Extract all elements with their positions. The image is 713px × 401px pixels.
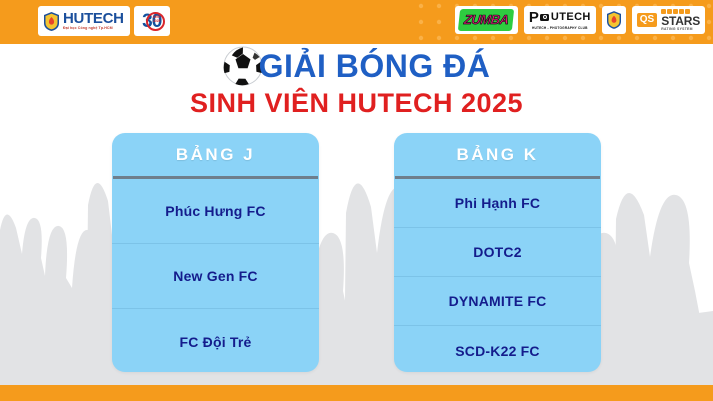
qs-rating-system-text: RATING SYSTEM <box>661 28 700 31</box>
camera-icon <box>540 14 549 21</box>
group-card-k: BẢNG K Phi Hạnh FC DOTC2 DYNAMITE FC SCD… <box>394 133 601 372</box>
team-name: DYNAMITE FC <box>449 293 547 309</box>
header-right-logo-group: ZUMBA P UTECH HUTECH - PHOTOGRAPHY CLUB … <box>455 6 705 34</box>
header-left-logo-group: HUTECH Đại học Công nghệ Tp.HCM 30 1995-… <box>38 6 170 36</box>
team-name: Phi Hạnh FC <box>455 195 540 211</box>
hutech-30-anniversary-logo: 30 1995-2025 <box>134 6 170 36</box>
bottom-orange-bar <box>0 385 713 401</box>
page-title-line1: GIẢI BÓNG ĐÁ <box>259 50 491 82</box>
zumba-logo-text: ZUMBA <box>464 12 510 27</box>
group-card-j: BẢNG J Phúc Hưng FC New Gen FC FC Đội Tr… <box>112 133 319 372</box>
hutech-shield-logo <box>602 6 626 34</box>
team-row[interactable]: Phúc Hưng FC <box>112 179 319 244</box>
hutech-logo-text: HUTECH <box>63 11 124 26</box>
group-j-header-label: BẢNG J <box>176 145 255 165</box>
zumba-logo: ZUMBA <box>455 6 517 34</box>
team-name: Phúc Hưng FC <box>165 203 265 219</box>
team-row[interactable]: SCD-K22 FC <box>394 326 601 372</box>
qs-badge-text: QS <box>637 13 657 27</box>
team-name: FC Đội Trẻ <box>179 334 251 350</box>
qs-stars-text: STARS <box>661 15 700 27</box>
group-j-header: BẢNG J <box>112 133 319 176</box>
group-k-team-list: Phi Hạnh FC DOTC2 DYNAMITE FC SCD-K22 FC <box>394 179 601 372</box>
soccer-ball-icon <box>223 46 263 86</box>
qs-stars-logo: QS STARS RATING SYSTEM <box>632 6 705 34</box>
photo-club-p-letter: P <box>529 11 539 25</box>
zumba-logo-badge: ZUMBA <box>458 9 515 31</box>
hutech-shield-icon <box>607 11 621 29</box>
photo-club-text: UTECH <box>551 12 591 23</box>
team-row[interactable]: FC Đội Trẻ <box>112 309 319 372</box>
hutech-logo: HUTECH Đại học Công nghệ Tp.HCM <box>38 6 130 36</box>
hutech-photography-club-logo: P UTECH HUTECH - PHOTOGRAPHY CLUB <box>524 6 596 34</box>
page-title: GIẢI BÓNG ĐÁ SINH VIÊN HUTECH 2025 <box>0 46 713 117</box>
team-row[interactable]: Phi Hạnh FC <box>394 179 601 228</box>
photo-club-subtitle: HUTECH - PHOTOGRAPHY CLUB <box>532 26 588 30</box>
group-k-header: BẢNG K <box>394 133 601 176</box>
team-name: SCD-K22 FC <box>455 343 539 359</box>
team-row[interactable]: DOTC2 <box>394 228 601 277</box>
slide-canvas: HUTECH Đại học Công nghệ Tp.HCM 30 1995-… <box>0 0 713 401</box>
hutech-shield-icon <box>44 12 59 31</box>
anniversary-years: 1995-2025 <box>151 16 163 23</box>
team-name: DOTC2 <box>473 244 521 260</box>
team-name: New Gen FC <box>173 268 257 284</box>
hutech-logo-subtitle: Đại học Công nghệ Tp.HCM <box>63 27 124 31</box>
page-title-line2: SINH VIÊN HUTECH 2025 <box>0 90 713 117</box>
team-row[interactable]: DYNAMITE FC <box>394 277 601 326</box>
group-j-team-list: Phúc Hưng FC New Gen FC FC Đội Trẻ <box>112 179 319 372</box>
crowd-silhouette-background <box>0 135 713 385</box>
group-k-header-label: BẢNG K <box>456 145 538 165</box>
team-row[interactable]: New Gen FC <box>112 244 319 309</box>
